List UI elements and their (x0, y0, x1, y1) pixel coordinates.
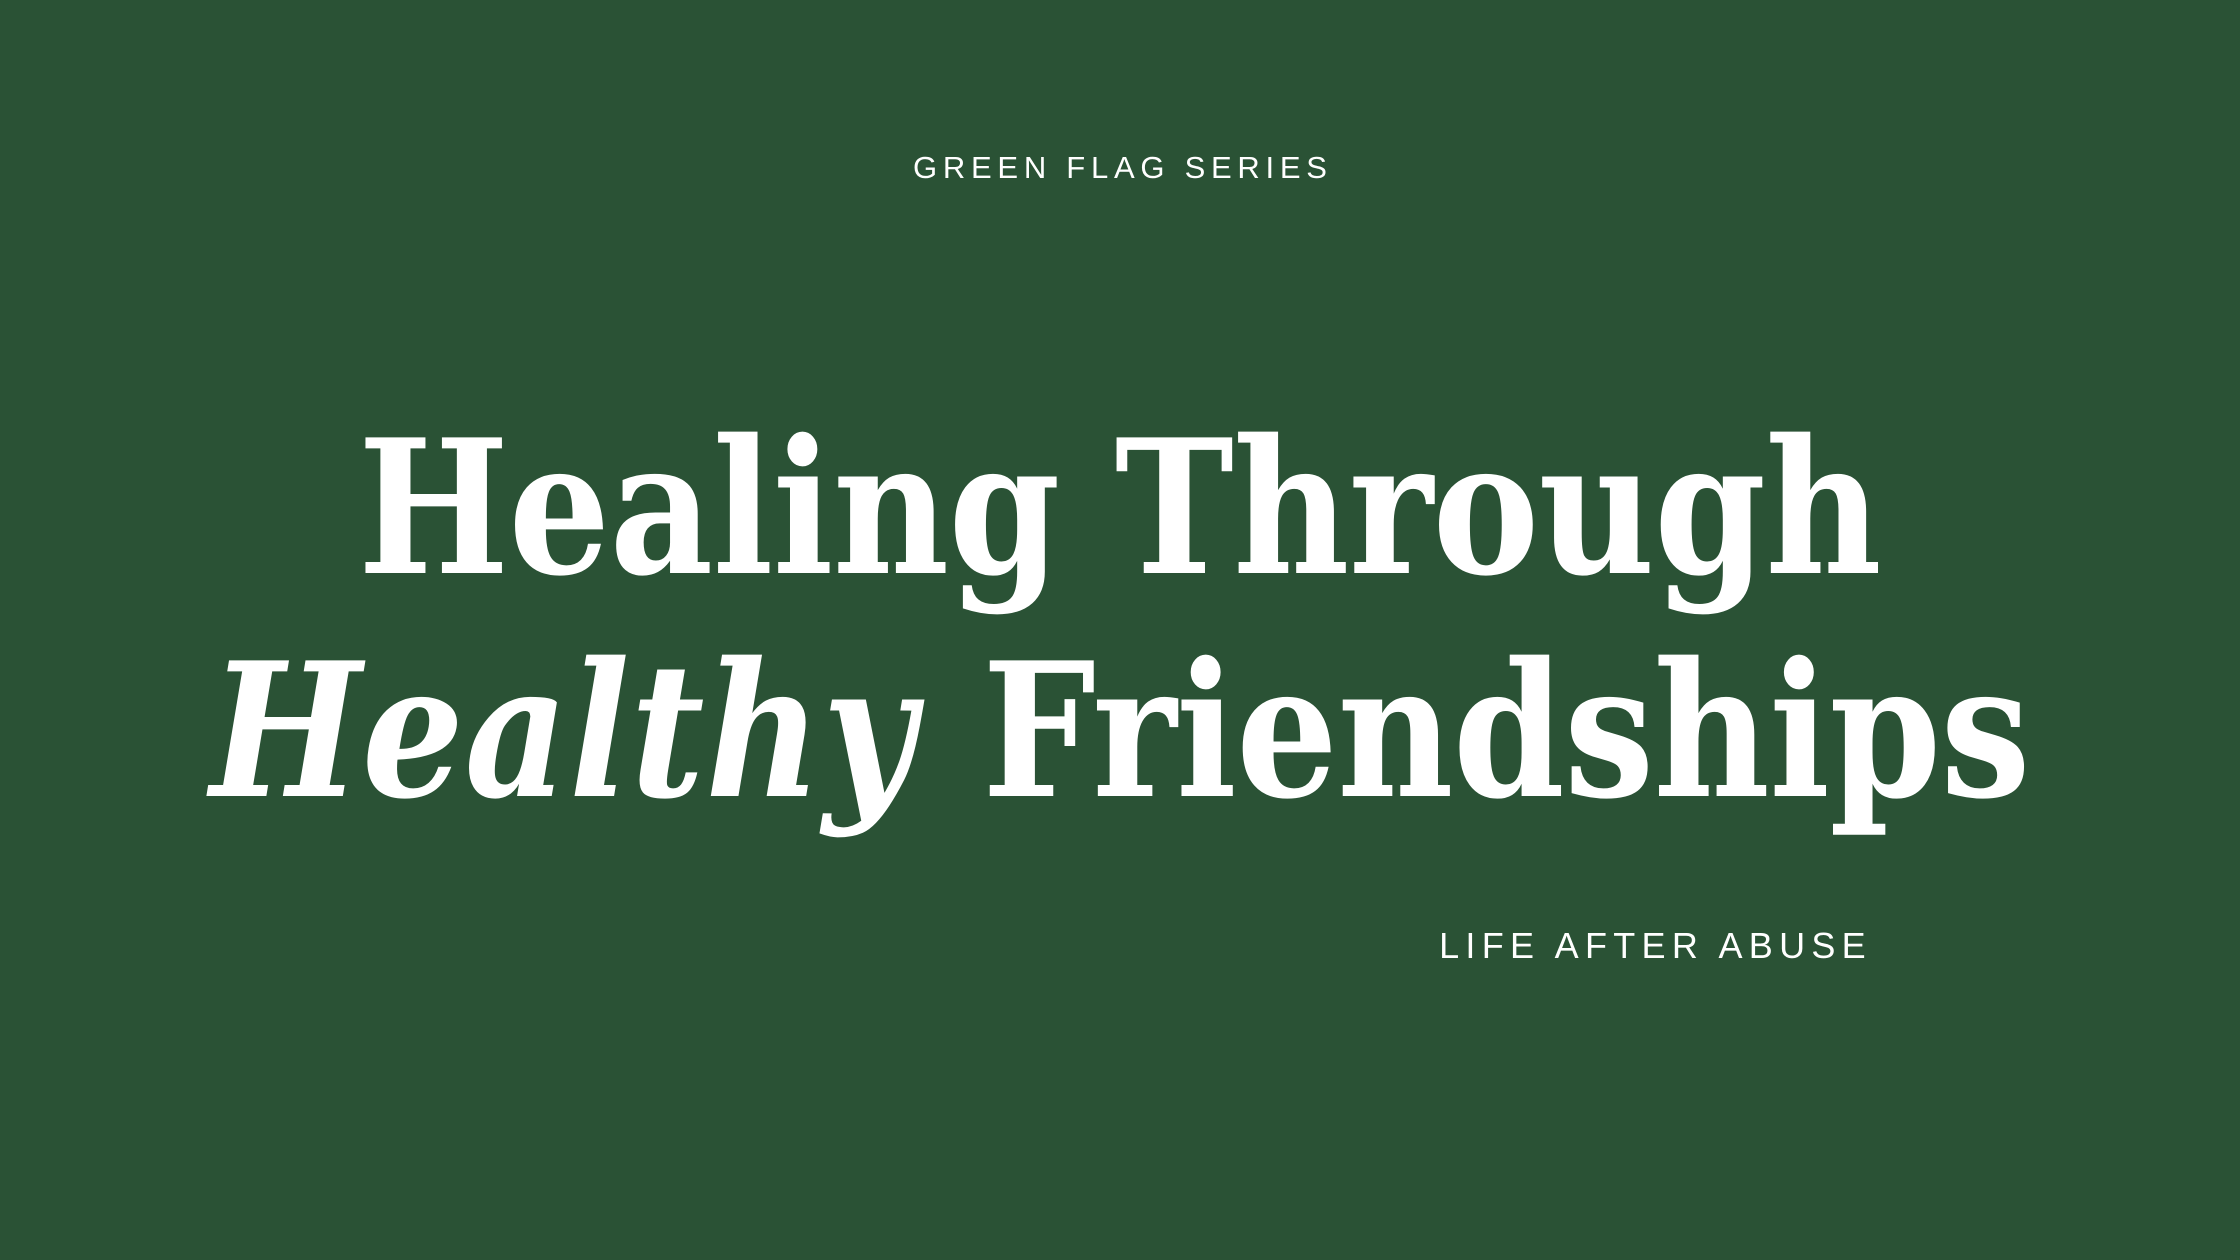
footer-caption: LIFE AFTER ABUSE (0, 928, 2240, 964)
page-title: Healing Through Healthy Friendships (0, 396, 2240, 842)
headline-line-2-inner: Healthy Friendships (210, 619, 2030, 842)
title-slide: GREEN FLAG SERIES Healing Through Health… (0, 0, 2240, 1260)
headline-emphasis-word: Healthy (210, 621, 982, 840)
headline-line-1-text: Healing Through (358, 396, 1881, 619)
headline-line-2: Healthy Friendships (0, 619, 2240, 842)
headline-line-2-text: Friendships (982, 621, 2030, 840)
series-eyebrow: GREEN FLAG SERIES (0, 152, 2240, 183)
headline-line-1: Healing Through (0, 396, 2240, 619)
